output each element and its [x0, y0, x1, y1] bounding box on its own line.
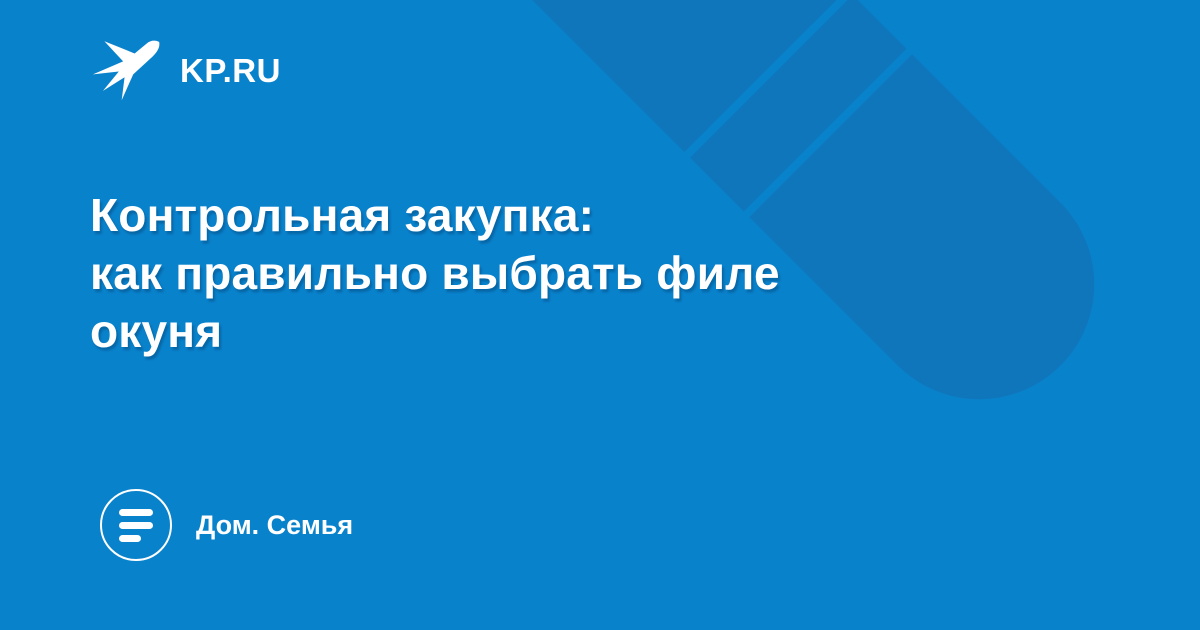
page-title: Контрольная закупка: как правильно выбра…: [90, 186, 960, 360]
swallow-bird-icon: [90, 34, 162, 106]
menu-line-2: [119, 522, 153, 529]
hamburger-menu-icon[interactable]: [100, 489, 172, 561]
rubric-label: Дом. Семья: [196, 512, 353, 539]
rubric-badge[interactable]: Дом. Семья: [100, 489, 353, 561]
brand-lockup[interactable]: KP.RU: [90, 30, 281, 110]
brand-name: KP.RU: [180, 54, 281, 87]
menu-line-1: [119, 509, 153, 516]
menu-line-3: [119, 535, 141, 542]
share-card: KP.RU Контрольная закупка: как правильно…: [0, 0, 1200, 630]
